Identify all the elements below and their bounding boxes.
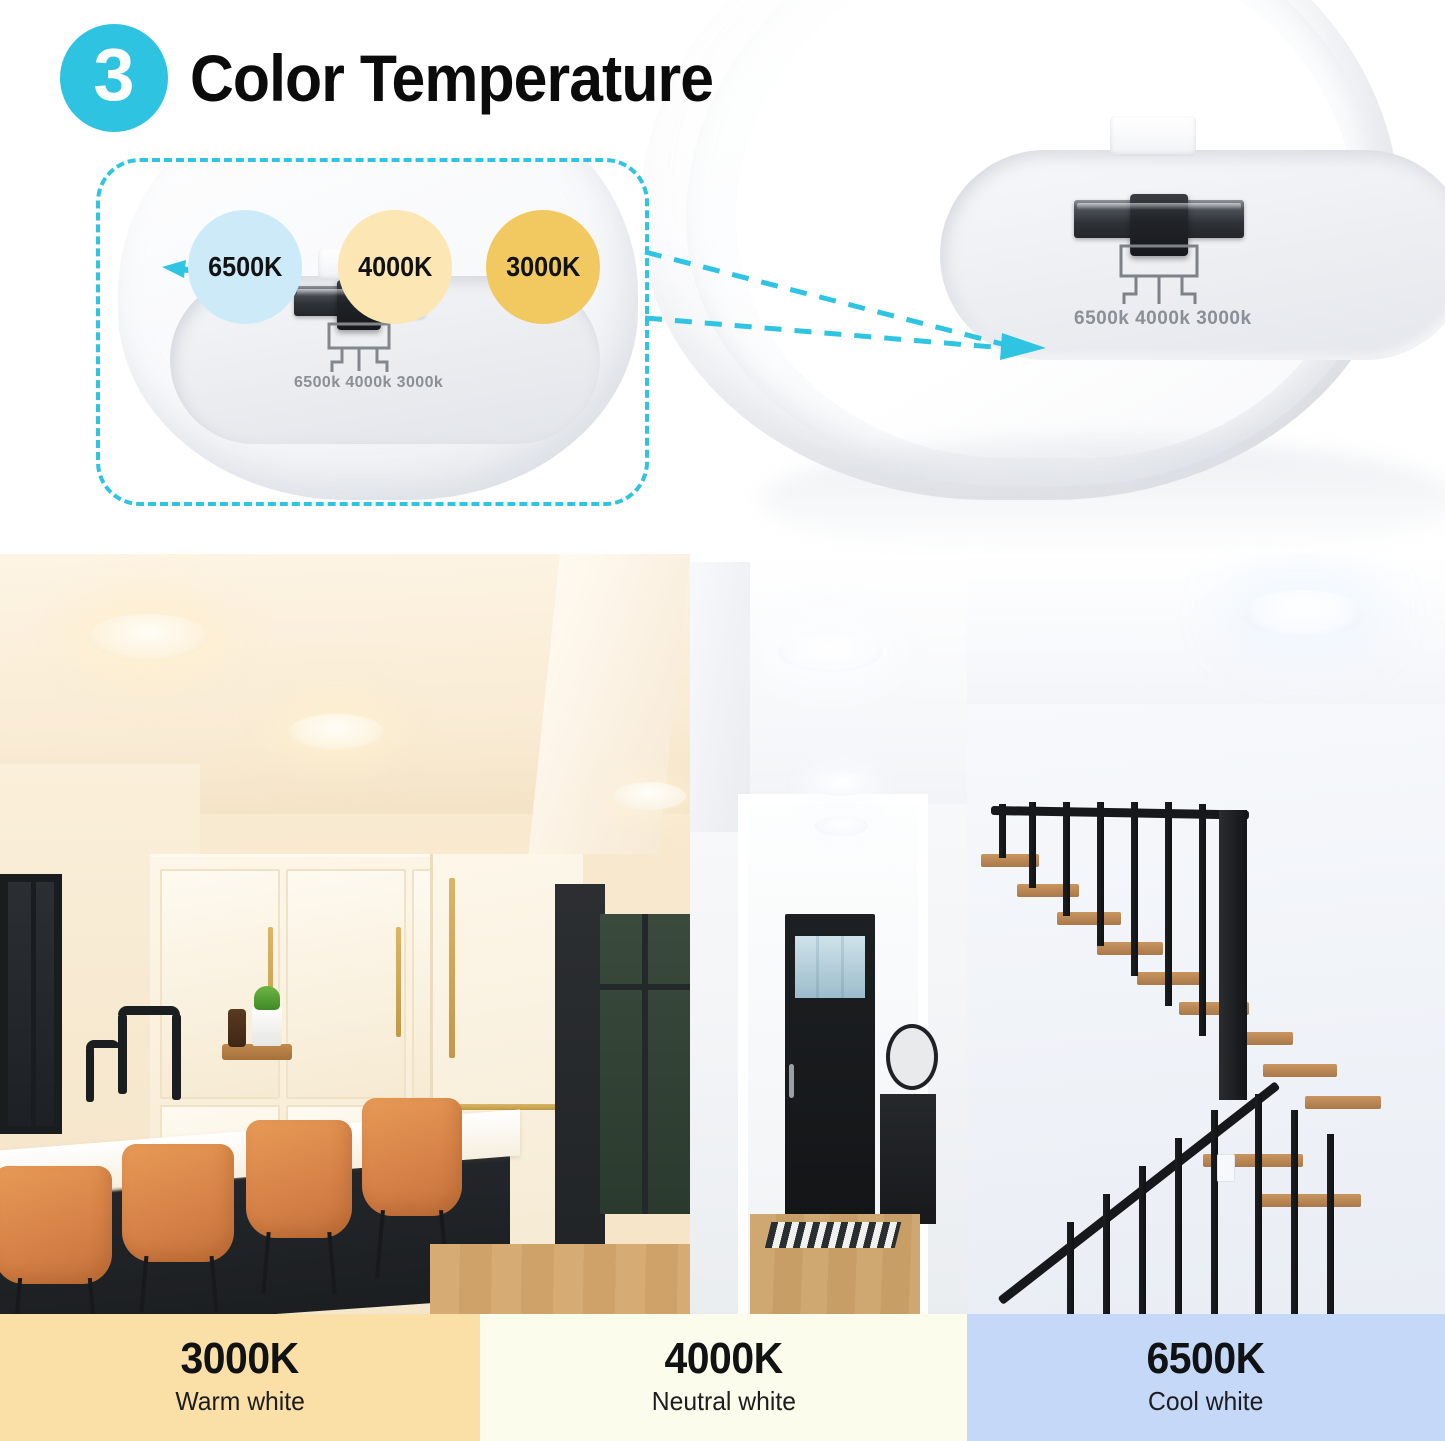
temperature-chip-6500k-label: 6500K — [208, 251, 282, 283]
kitchen-faucet-arc — [118, 1006, 180, 1015]
kitchen-faucet-handle-arc — [86, 1040, 120, 1048]
scene-hallway-neutral — [690, 554, 967, 1314]
baluster — [1327, 1134, 1334, 1314]
ceiling-light-stairs-1 — [1243, 590, 1363, 638]
top-product-section: 3 Color Temperature — [0, 0, 1445, 554]
bar-stool — [362, 1098, 462, 1216]
baluster — [1255, 1094, 1262, 1314]
door-glass-panes — [795, 936, 865, 998]
ceiling-light-hallway-2 — [810, 772, 872, 796]
bar-stool — [0, 1166, 112, 1284]
baluster — [1139, 1166, 1146, 1314]
product-fixture-illustration: 6500k 4000k 3000k — [640, 0, 1445, 554]
legend-desc-4000k: Neutral white — [651, 1388, 795, 1414]
kitchen-faucet-handle — [86, 1046, 94, 1102]
kitchen-floor — [430, 1244, 690, 1314]
kitchen-exterior-window — [600, 914, 690, 1214]
plant-pot — [252, 1006, 282, 1046]
switch-track — [1074, 200, 1244, 238]
zoom-callout-box: 6500k 4000k 3000k 6500K 4000K 3000K — [96, 158, 649, 506]
baluster — [1097, 802, 1104, 946]
newel-post — [1219, 810, 1247, 1100]
switch-position-diagram — [1074, 244, 1244, 309]
product-cct-switch[interactable]: 6500k 4000k 3000k — [1074, 200, 1244, 238]
bar-stool — [122, 1144, 234, 1262]
kitchen-faucet-spout — [172, 1014, 181, 1100]
scene-staircase-cool — [967, 554, 1445, 1314]
stool-seat — [362, 1098, 462, 1216]
ceiling-light-kitchen-2 — [288, 714, 384, 750]
door-pane — [819, 936, 840, 998]
legend-temp-6500k: 6500K — [1147, 1337, 1265, 1382]
temperature-chip-4000k-label: 4000K — [358, 251, 432, 283]
window-mullion — [642, 914, 648, 1214]
stair-tread — [1305, 1096, 1381, 1109]
baluster — [1131, 802, 1138, 976]
fixture-shadow — [760, 440, 1445, 554]
soap-dispenser — [228, 1009, 246, 1047]
kitchen-window — [0, 874, 62, 1134]
door-handle — [789, 1064, 794, 1098]
interior-scenes-photo — [0, 554, 1445, 1314]
legend-temp-3000k: 3000K — [181, 1337, 299, 1382]
cabinet-handle — [396, 927, 401, 1037]
temperature-chip-row: 6500K 4000K 3000K — [100, 162, 645, 502]
fridge-handle — [449, 1104, 559, 1110]
legend-cell-3000k: 3000K Warm white — [0, 1314, 480, 1441]
page-title: Color Temperature — [190, 40, 713, 116]
door-pane — [795, 936, 816, 998]
color-temperature-legend: 3000K Warm white 4000K Neutral white 650… — [0, 1314, 1445, 1441]
product-switch-markings: 6500k 4000k 3000k — [1074, 308, 1244, 330]
stool-seat — [122, 1144, 234, 1262]
ceiling-light-hallway-1 — [778, 632, 882, 672]
page-header: 3 Color Temperature — [60, 24, 759, 132]
legend-cell-6500k: 6500K Cool white — [967, 1314, 1445, 1441]
kitchen-faucet-spout — [118, 1014, 127, 1094]
temperature-chip-6500k: 6500K — [188, 210, 302, 324]
fridge-handle — [449, 878, 455, 1058]
hallway-beam — [690, 562, 750, 832]
baluster — [1291, 1110, 1298, 1314]
wall-outlet — [1217, 1154, 1235, 1182]
door-pane — [844, 936, 865, 998]
baluster — [1067, 1222, 1074, 1314]
front-door — [785, 914, 875, 1244]
ceiling-light-hallway-3 — [814, 816, 868, 836]
baluster — [1063, 802, 1070, 916]
baluster — [1211, 1110, 1218, 1314]
stool-seat — [246, 1120, 352, 1238]
stool-seat — [0, 1166, 112, 1284]
plant-leaves — [254, 986, 280, 1010]
fixture-mount-tab — [1110, 116, 1196, 156]
legend-cell-4000k: 4000K Neutral white — [480, 1314, 967, 1441]
baluster — [1165, 802, 1172, 1006]
temperature-chip-3000k-label: 3000K — [506, 251, 580, 283]
bar-stool — [246, 1120, 352, 1238]
baluster — [1103, 1194, 1110, 1314]
stair-tread — [1097, 942, 1163, 955]
temperature-chip-4000k: 4000K — [338, 210, 452, 324]
legend-desc-3000k: Warm white — [175, 1388, 304, 1414]
scene-kitchen-warm — [0, 554, 690, 1314]
step-number-badge: 3 — [60, 24, 168, 132]
legend-temp-4000k: 4000K — [664, 1337, 782, 1382]
ceiling-light-kitchen-1 — [88, 614, 208, 660]
infographic-page: 3 Color Temperature — [0, 0, 1445, 1441]
stair-tread — [1257, 1194, 1361, 1207]
stair-tread — [1263, 1064, 1337, 1077]
baluster — [1175, 1138, 1182, 1314]
hallway-mirror — [886, 1024, 938, 1090]
legend-desc-6500k: Cool white — [1148, 1388, 1263, 1414]
ceiling-light-kitchen-3 — [612, 782, 686, 810]
temperature-chip-3000k: 3000K — [486, 210, 600, 324]
baluster — [1199, 804, 1206, 1036]
cabinet-door — [286, 869, 406, 1099]
hallway-console-table — [880, 1094, 936, 1224]
hallway-runner-rug — [765, 1222, 901, 1248]
